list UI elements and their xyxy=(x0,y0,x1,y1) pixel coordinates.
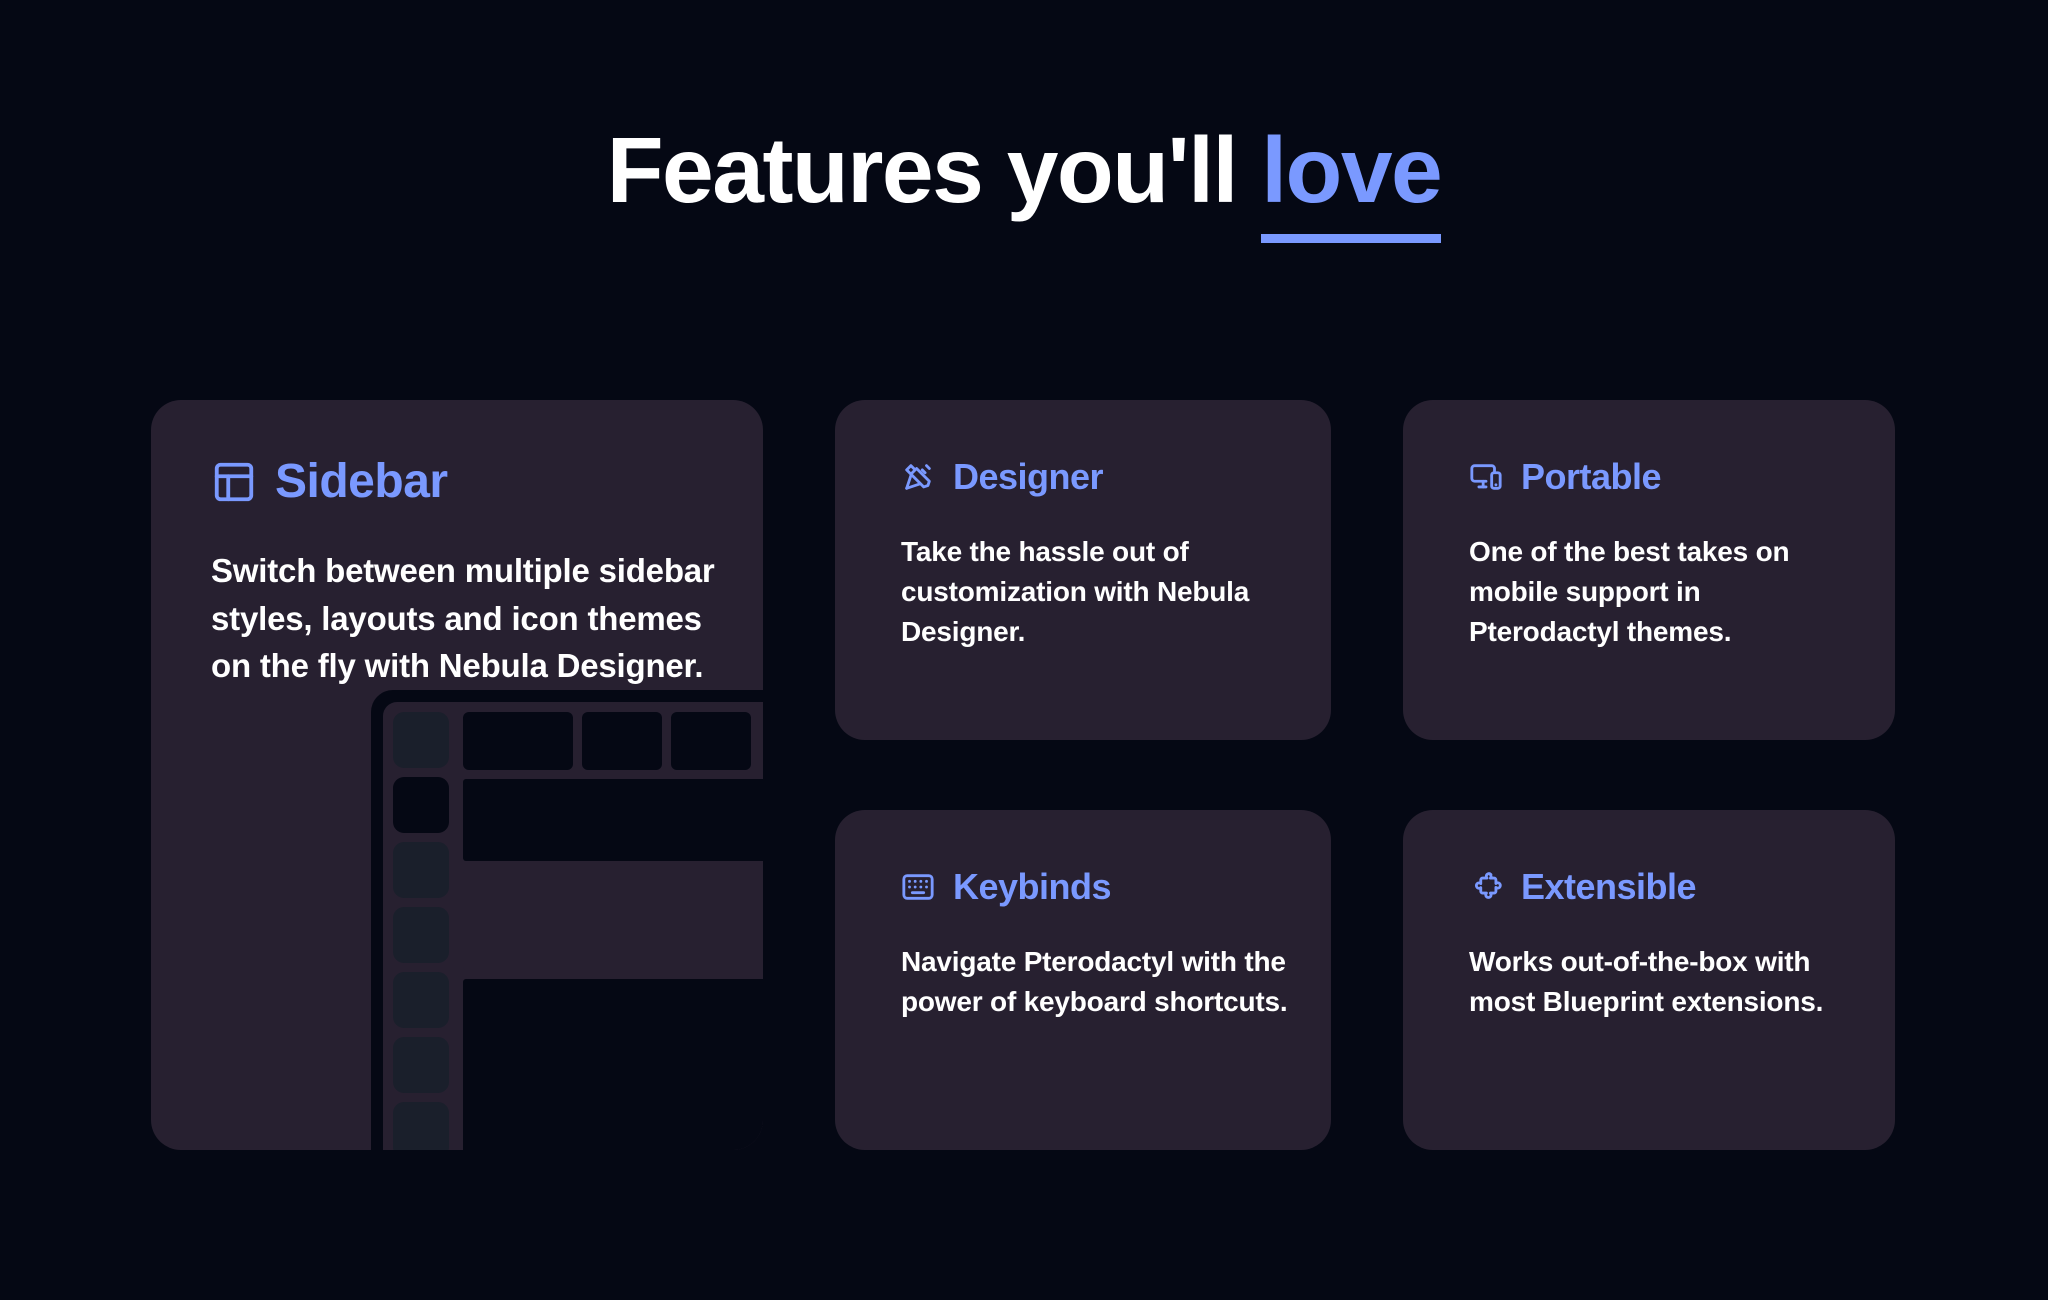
keyboard-icon xyxy=(901,870,935,904)
preview-tab xyxy=(463,712,573,770)
sidebar-layout-preview xyxy=(211,690,763,1150)
feature-card-sidebar-title: Sidebar xyxy=(275,454,448,509)
puzzle-piece-icon xyxy=(1469,870,1503,904)
features-section: Features you'll love Sidebar Switch betw… xyxy=(0,0,2048,1300)
feature-card-portable[interactable]: Portable One of the best takes on mobile… xyxy=(1403,400,1895,740)
feature-card-portable-body: One of the best takes on mobile support … xyxy=(1469,532,1855,651)
preview-main-area xyxy=(463,712,763,1150)
page-title: Features you'll love xyxy=(0,118,2048,222)
feature-card-extensible-title: Extensible xyxy=(1521,866,1696,908)
feature-card-sidebar-body: Switch between multiple sidebar styles, … xyxy=(211,547,719,690)
feature-card-keybinds-body: Navigate Pterodactyl with the power of k… xyxy=(901,942,1291,1022)
feature-card-portable-content: Portable One of the best takes on mobile… xyxy=(1469,456,1855,651)
feature-card-designer-body: Take the hassle out of customization wit… xyxy=(901,532,1291,651)
preview-rail-item xyxy=(393,712,449,768)
pen-ruler-icon xyxy=(901,460,935,494)
feature-card-portable-title: Portable xyxy=(1521,456,1661,498)
preview-tab xyxy=(671,712,751,770)
preview-icon-rail xyxy=(393,712,449,1150)
feature-card-sidebar-header: Sidebar xyxy=(211,454,719,509)
preview-tab xyxy=(582,712,662,770)
preview-panel-dark xyxy=(463,779,763,861)
preview-window-frame xyxy=(371,690,763,1150)
feature-card-keybinds-title: Keybinds xyxy=(953,866,1111,908)
preview-rail-item xyxy=(393,1102,449,1150)
page-title-accent: love xyxy=(1261,118,1441,243)
preview-rail-item-active xyxy=(393,777,449,833)
page-title-plain: Features you'll xyxy=(607,118,1261,222)
feature-card-sidebar-content: Sidebar Switch between multiple sidebar … xyxy=(211,454,719,690)
feature-card-extensible-content: Extensible Works out-of-the-box with mos… xyxy=(1469,866,1855,1022)
preview-tab-bar xyxy=(463,712,763,770)
feature-card-extensible[interactable]: Extensible Works out-of-the-box with mos… xyxy=(1403,810,1895,1150)
monitor-smartphone-icon xyxy=(1469,460,1503,494)
feature-card-designer[interactable]: Designer Take the hassle out of customiz… xyxy=(835,400,1331,740)
preview-window-inner xyxy=(383,702,763,1150)
preview-rail-item xyxy=(393,972,449,1028)
feature-card-keybinds-content: Keybinds Navigate Pterodactyl with the p… xyxy=(901,866,1291,1022)
feature-card-grid: Sidebar Switch between multiple sidebar … xyxy=(151,400,1897,1150)
preview-rail-item xyxy=(393,907,449,963)
preview-rail-item xyxy=(393,1037,449,1093)
feature-card-designer-title: Designer xyxy=(953,456,1103,498)
feature-card-extensible-header: Extensible xyxy=(1469,866,1855,908)
feature-card-designer-header: Designer xyxy=(901,456,1291,498)
preview-panel-light xyxy=(463,870,763,970)
feature-card-sidebar[interactable]: Sidebar Switch between multiple sidebar … xyxy=(151,400,763,1150)
feature-card-keybinds[interactable]: Keybinds Navigate Pterodactyl with the p… xyxy=(835,810,1331,1150)
feature-card-designer-content: Designer Take the hassle out of customiz… xyxy=(901,456,1291,651)
feature-card-extensible-body: Works out-of-the-box with most Blueprint… xyxy=(1469,942,1855,1022)
preview-panel-tall xyxy=(463,979,763,1150)
feature-card-keybinds-header: Keybinds xyxy=(901,866,1291,908)
preview-rail-item xyxy=(393,842,449,898)
feature-card-portable-header: Portable xyxy=(1469,456,1855,498)
layout-panel-icon xyxy=(211,459,257,505)
